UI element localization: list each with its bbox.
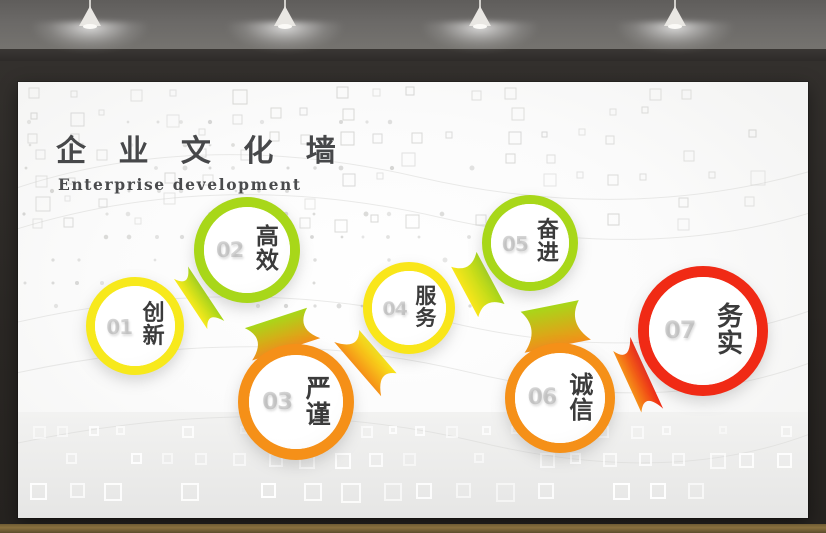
culture-wall-scene: 企 业 文 化 墙 Enterprise development 01创新02高…	[0, 0, 826, 533]
spotlight-bulb	[83, 24, 97, 29]
node-number-watermark: 02	[216, 238, 243, 262]
node-label-line: 信	[569, 398, 593, 423]
node-label-line: 进	[537, 243, 559, 266]
node-label-line: 务	[717, 304, 743, 331]
node-number-watermark: 03	[262, 389, 292, 415]
node-number-watermark: 05	[502, 232, 528, 256]
node-label-line: 服	[415, 286, 436, 308]
spotlight-bulb	[278, 24, 292, 29]
node-label: 诚信	[569, 373, 593, 423]
spotlight-bulb	[668, 24, 682, 29]
spotlight-shade-icon	[469, 6, 491, 26]
spotlight-4	[615, 0, 735, 62]
spotlight-shade-icon	[274, 6, 296, 26]
floor-strip	[0, 524, 826, 533]
node-label-line: 效	[256, 250, 279, 274]
node-label: 严谨	[306, 376, 331, 428]
node-label-line: 新	[143, 326, 165, 349]
node-label-line: 严	[306, 376, 331, 402]
spotlight-1	[30, 0, 150, 62]
spotlight-bulb	[473, 24, 487, 29]
node-label-line: 务	[415, 308, 436, 330]
node-label-line: 创	[143, 303, 165, 326]
culture-node-rigor[interactable]: 03严谨	[238, 344, 354, 460]
culture-node-innovation[interactable]: 01创新	[86, 277, 184, 375]
spotlight-2	[225, 0, 345, 62]
node-label-line: 高	[256, 226, 279, 250]
node-label: 高效	[256, 226, 279, 274]
spotlight-shade-icon	[664, 6, 686, 26]
node-number-watermark: 07	[664, 316, 695, 344]
node-label-line: 诚	[569, 373, 593, 398]
culture-board-panel: 企 业 文 化 墙 Enterprise development 01创新02高…	[18, 82, 808, 518]
culture-node-pragmatism[interactable]: 07务实	[638, 266, 768, 396]
culture-node-integrity[interactable]: 06诚信	[505, 343, 615, 453]
node-chain: 01创新02高效03严谨04服务05奋进06诚信07务实	[18, 82, 808, 518]
node-label: 创新	[143, 303, 165, 349]
node-label: 奋进	[537, 220, 559, 266]
node-label-line: 实	[717, 331, 743, 358]
culture-node-service[interactable]: 04服务	[363, 262, 455, 354]
node-label: 服务	[415, 286, 436, 330]
culture-node-efficiency[interactable]: 02高效	[194, 197, 300, 303]
node-label-line: 奋	[537, 220, 559, 243]
node-label-line: 谨	[306, 402, 331, 428]
culture-node-striving[interactable]: 05奋进	[482, 195, 578, 291]
node-number-watermark: 06	[528, 385, 557, 410]
node-number-watermark: 04	[382, 298, 406, 320]
node-label: 务实	[717, 304, 743, 358]
node-number-watermark: 01	[106, 315, 132, 339]
spotlight-3	[420, 0, 540, 62]
spotlight-shade-icon	[79, 6, 101, 26]
